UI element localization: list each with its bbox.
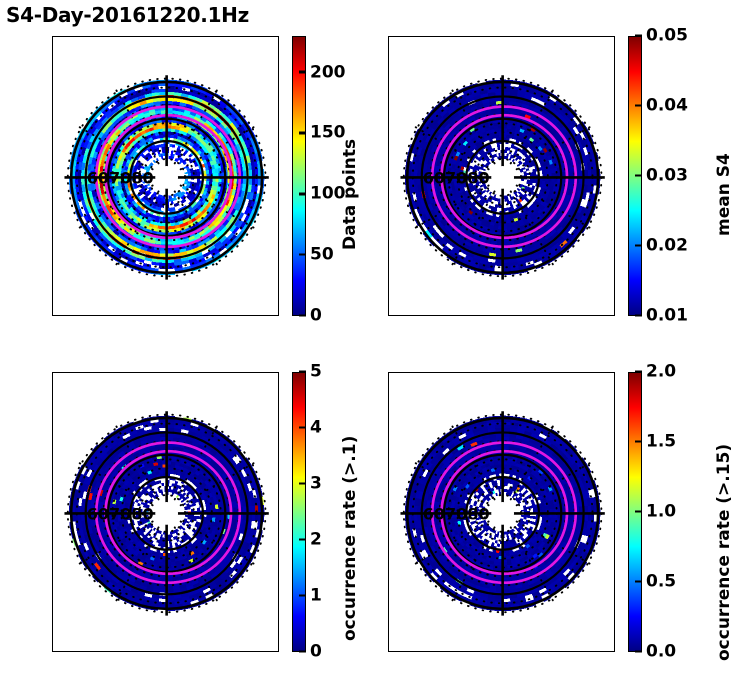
colorbar-tick-label: 0.04 — [642, 98, 688, 115]
panel-data-points: 607080 — [52, 36, 279, 316]
colorbar-tick-mark — [635, 174, 642, 177]
colorbar-tick-mark — [635, 34, 642, 37]
colorbar-tick-text: 0 — [310, 306, 322, 326]
colorbar-tick-mark — [299, 253, 306, 256]
colorbar-axis-label: Data points — [340, 139, 360, 250]
colorbar-tick-mark — [635, 244, 642, 247]
axes-frame — [388, 36, 615, 316]
page-title: S4-Day-20161220.1Hz — [6, 3, 249, 27]
colorbar-panel-mean-s4: 0.010.020.030.040.05 — [628, 36, 642, 316]
colorbar-tick-text: 0.03 — [646, 166, 688, 186]
colorbar-tick-label: 50 — [306, 247, 334, 264]
colorbar-gradient — [292, 36, 306, 316]
colorbar-tick-text: 0.01 — [646, 306, 688, 326]
colorbar-tick-label: 0.01 — [642, 308, 688, 325]
colorbar-tick-mark — [635, 104, 642, 107]
colorbar-tick-text: 0.02 — [646, 236, 688, 256]
figure-canvas: S4-Day-20161220.1Hz 607080050100150200Da… — [0, 0, 731, 674]
colorbar-tick-text: 0.05 — [646, 26, 688, 46]
colorbar-axis-label: mean S4 — [714, 153, 731, 236]
colorbar-tick-label: 200 — [306, 64, 346, 81]
colorbar-tick-label: 0.02 — [642, 238, 688, 255]
colorbar-tick-label: 0.05 — [642, 28, 688, 45]
colorbar-tick-text: 50 — [310, 245, 334, 265]
colorbar-tick-mark — [635, 314, 642, 317]
colorbar-tick-mark — [299, 71, 306, 74]
colorbar-panel-data-points: 050100150200 — [292, 36, 306, 316]
colorbar-tick-text: 200 — [310, 62, 346, 82]
colorbar-tick-mark — [299, 314, 306, 317]
panel-occurrence-rate-gt-1: 607080 — [52, 372, 279, 652]
axes-frame — [52, 36, 279, 316]
panel-mean-s4: 607080 — [388, 36, 615, 316]
colorbar-tick-mark — [299, 192, 306, 195]
colorbar-tick-label: 0.03 — [642, 168, 688, 185]
colorbar-tick-mark — [299, 132, 306, 135]
colorbar-tick-label: 0 — [306, 308, 322, 325]
colorbar-tick-text: 0.04 — [646, 96, 688, 116]
colorbar-ticks: 0.010.020.030.040.05 — [642, 36, 702, 316]
